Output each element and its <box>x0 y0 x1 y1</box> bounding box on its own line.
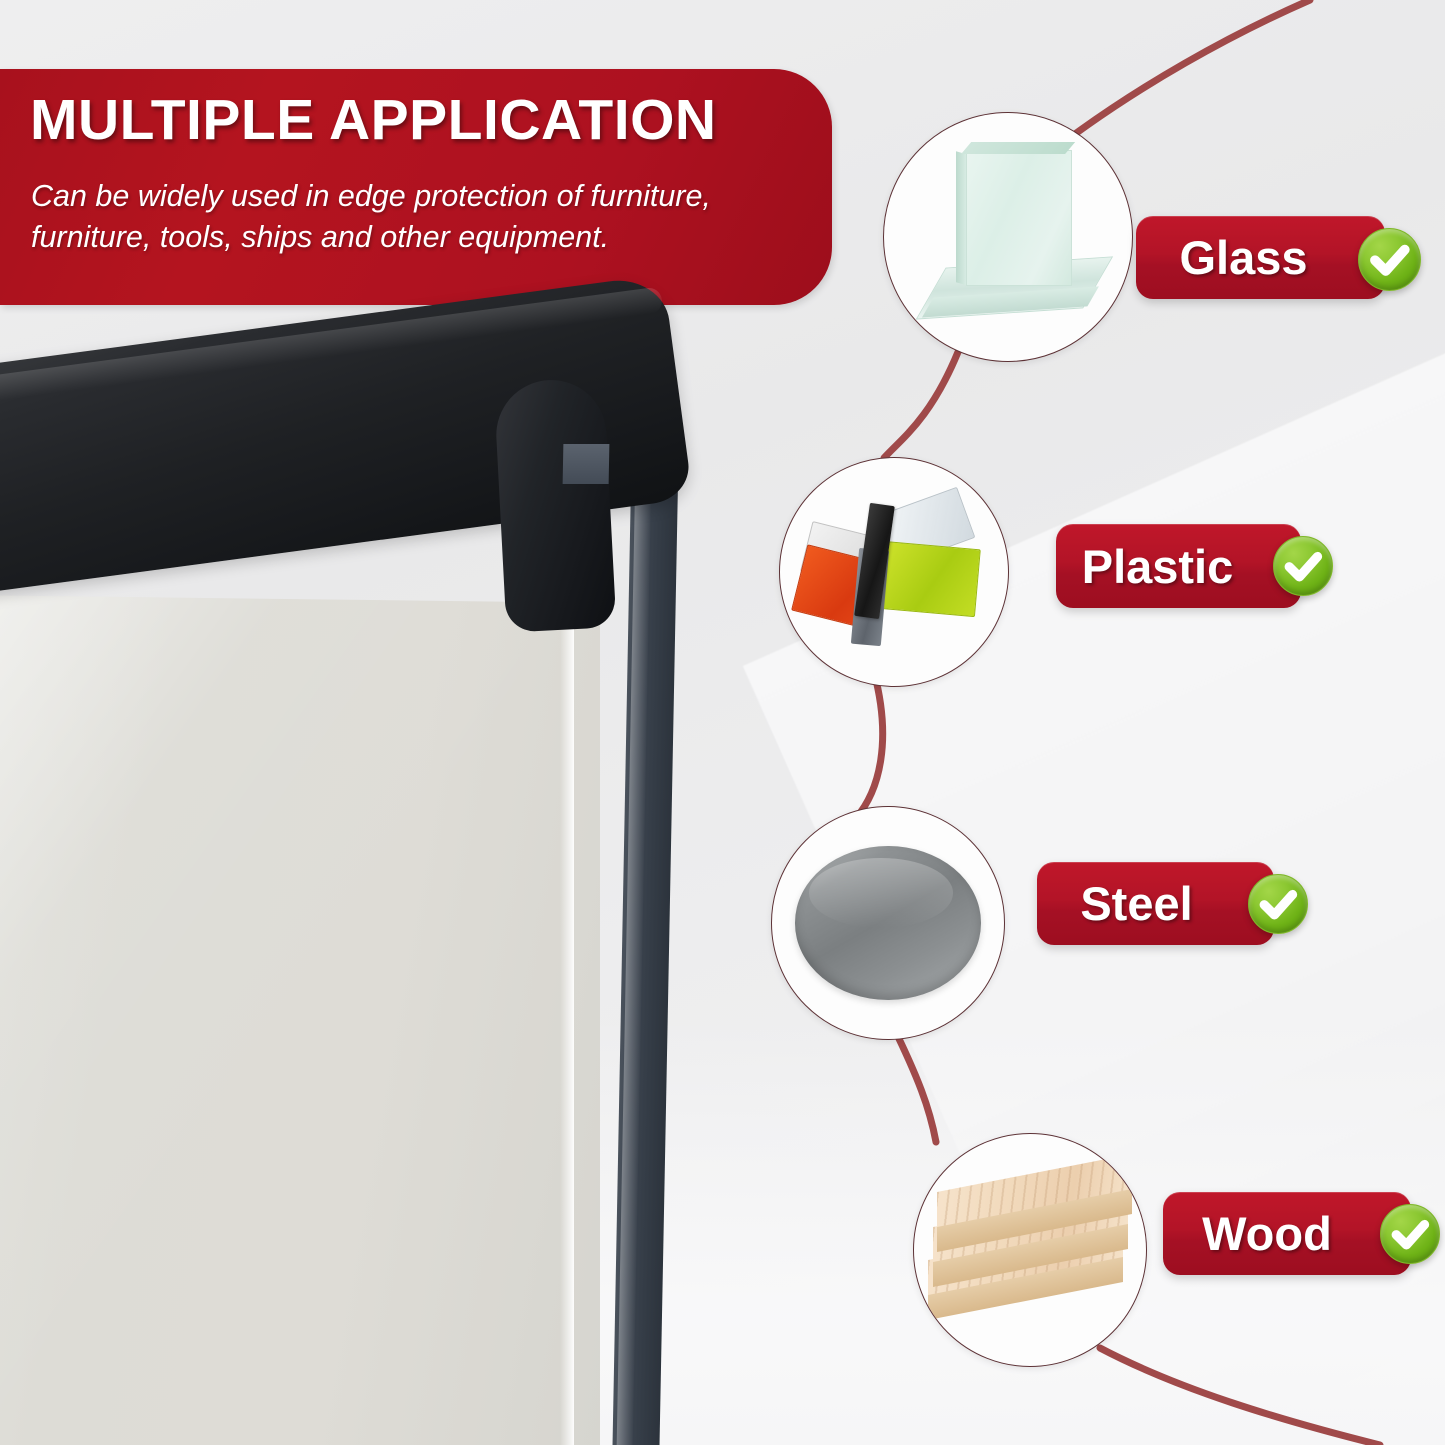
edge-guard-assembly <box>0 378 700 638</box>
glass-panel-top <box>961 142 1076 154</box>
thumbnail-wood[interactable] <box>913 1133 1147 1367</box>
thumbnail-steel[interactable] <box>771 806 1005 1040</box>
product-image <box>0 360 740 1445</box>
infographic-canvas: MULTIPLE APPLICATION Can be widely used … <box>0 0 1445 1445</box>
material-label-plastic[interactable]: Plastic <box>1056 524 1301 608</box>
glass-panel <box>966 150 1072 286</box>
panel-highlight <box>560 596 574 1445</box>
wood-artwork <box>914 1134 1146 1366</box>
banner-title: MULTIPLE APPLICATION <box>30 91 800 149</box>
green-check-icon <box>1380 1204 1440 1264</box>
green-check-icon <box>1358 228 1421 291</box>
steel-artwork <box>772 807 1004 1039</box>
material-label-glass-text: Glass <box>1136 216 1385 299</box>
material-label-wood[interactable]: Wood <box>1163 1192 1411 1275</box>
plastic-artwork <box>780 458 1008 686</box>
green-check-icon <box>1273 536 1333 596</box>
plastic-sheet-green <box>878 540 981 616</box>
material-label-wood-text: Wood <box>1163 1192 1411 1275</box>
material-label-plastic-text: Plastic <box>1056 524 1301 608</box>
edge-guard-notch <box>563 444 610 484</box>
banner-subtitle: Can be widely used in edge protection of… <box>31 176 811 257</box>
material-label-steel[interactable]: Steel <box>1037 862 1274 945</box>
thumbnail-plastic[interactable] <box>779 457 1009 687</box>
material-label-glass[interactable]: Glass <box>1136 216 1385 299</box>
headline-banner: MULTIPLE APPLICATION Can be widely used … <box>0 69 832 305</box>
edge-guard-end-cap <box>494 377 617 632</box>
material-label-steel-text: Steel <box>1037 862 1274 945</box>
panel-face-sheen <box>0 595 600 1445</box>
glass-artwork <box>884 113 1132 361</box>
steel-disc-sheen <box>809 858 953 928</box>
thumbnail-glass[interactable] <box>883 112 1133 362</box>
green-check-icon <box>1248 874 1308 934</box>
